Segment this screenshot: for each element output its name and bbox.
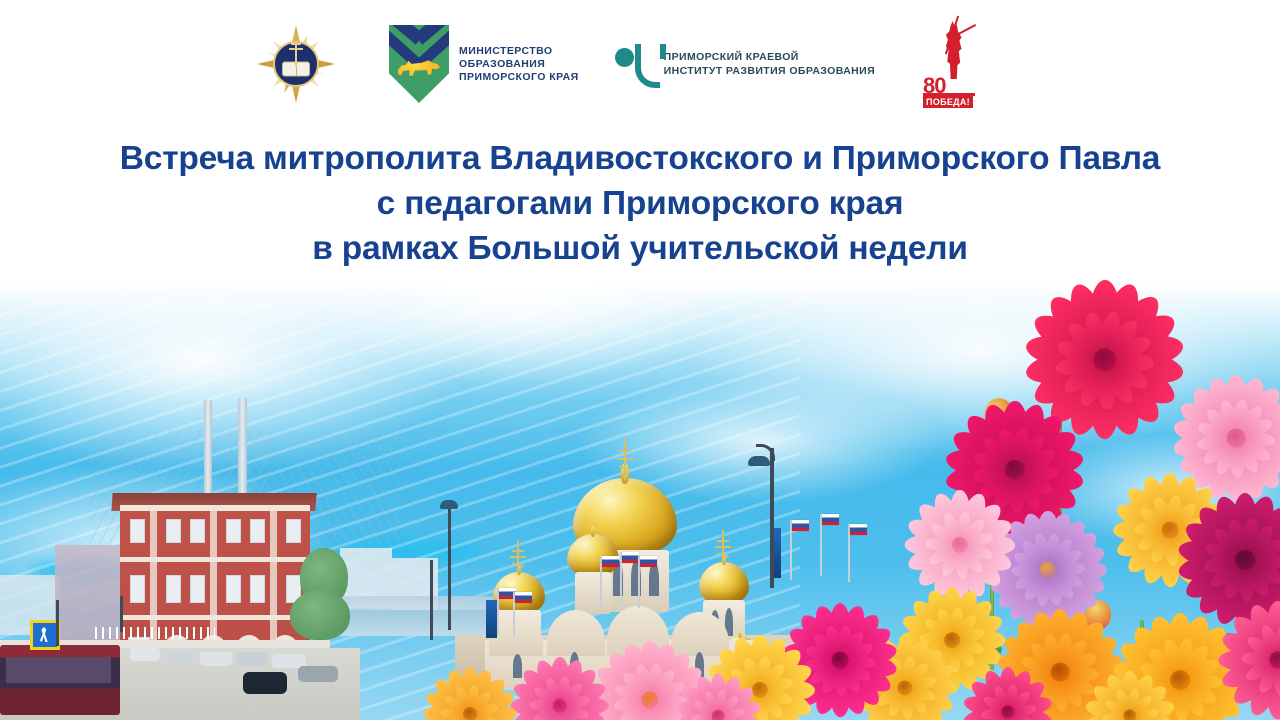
lamp-head bbox=[748, 456, 770, 466]
title-line-2: с педагогами Приморского края bbox=[0, 181, 1280, 226]
lamp-head bbox=[440, 500, 458, 509]
street-lamp bbox=[120, 596, 123, 632]
dome-cross bbox=[624, 438, 626, 480]
parked-car bbox=[200, 652, 232, 666]
poster-slide: МИНИСТЕРСТВО ОБРАЗОВАНИЯ ПРИМОРСКОГО КРА… bbox=[0, 0, 1280, 720]
raised-arm-icon bbox=[956, 24, 976, 36]
street-banner bbox=[966, 520, 977, 576]
bus-window bbox=[6, 657, 111, 683]
ministry-wordmark: МИНИСТЕРСТВО ОБРАЗОВАНИЯ ПРИМОРСКОГО КРА… bbox=[459, 45, 579, 84]
title-line-3: в рамках Большой учительской недели bbox=[0, 226, 1280, 271]
parked-car bbox=[130, 648, 160, 661]
street-railing bbox=[95, 627, 215, 639]
ministry-line-1: МИНИСТЕРСТВО bbox=[459, 45, 579, 58]
institute-mark-icon bbox=[615, 44, 655, 84]
dome-cross bbox=[517, 540, 519, 574]
parked-car bbox=[165, 650, 195, 663]
logo-row: МИНИСТЕРСТВО ОБРАЗОВАНИЯ ПРИМОРСКОГО КРА… bbox=[255, 18, 1045, 110]
victory-80-logo: 80 ПОБЕДА! bbox=[921, 19, 987, 109]
ministry-of-education-primorsky-logo: МИНИСТЕРСТВО ОБРАЗОВАНИЯ ПРИМОРСКОГО КРА… bbox=[337, 25, 579, 103]
dome-cross bbox=[722, 530, 724, 564]
plaza-lamp-post bbox=[430, 560, 433, 640]
institute-line-1: ПРИМОРСКИЙ КРАЕВОЙ bbox=[664, 50, 875, 64]
tree bbox=[290, 590, 350, 640]
victory-word: ПОБЕДА! bbox=[923, 96, 973, 108]
russian-flag bbox=[640, 556, 657, 567]
gable-arch bbox=[547, 610, 605, 656]
russian-flag bbox=[792, 520, 809, 531]
orthodox-cross-icon bbox=[295, 43, 297, 67]
primorsky-coat-of-arms-icon bbox=[389, 25, 449, 103]
ministry-line-3: ПРИМОРСКОГО КРАЯ bbox=[459, 71, 579, 84]
moving-car bbox=[298, 666, 338, 682]
russian-flag bbox=[622, 552, 639, 563]
russian-flag bbox=[515, 592, 532, 603]
russian-flag bbox=[602, 556, 619, 567]
plaza-lamp-post bbox=[770, 448, 774, 588]
street-banner bbox=[486, 600, 497, 638]
institute-wordmark: ПРИМОРСКИЙ КРАЕВОЙ ИНСТИТУТ РАЗВИТИЯ ОБР… bbox=[664, 50, 875, 78]
page-title: Встреча митрополита Владивостокского и П… bbox=[0, 136, 1280, 271]
title-line-1: Встреча митрополита Владивостокского и П… bbox=[0, 136, 1280, 181]
street-lamp bbox=[56, 600, 59, 646]
orthodox-education-emblem bbox=[255, 21, 337, 107]
moving-car bbox=[243, 672, 287, 694]
institute-line-2: ИНСТИТУТ РАЗВИТИЯ ОБРАЗОВАНИЯ bbox=[664, 64, 875, 78]
hook-curve-icon bbox=[635, 44, 660, 88]
gable-arch bbox=[607, 606, 669, 656]
parked-car bbox=[236, 652, 268, 666]
plaza-lamp-post bbox=[448, 500, 451, 630]
circle-dot-icon bbox=[615, 48, 634, 67]
tower-dome-right bbox=[699, 562, 749, 604]
logo-header: МИНИСТЕРСТВО ОБРАЗОВАНИЯ ПРИМОРСКОГО КРА… bbox=[0, 0, 1280, 122]
ministry-line-2: ОБРАЗОВАНИЯ bbox=[459, 58, 579, 71]
russian-flag bbox=[822, 514, 839, 525]
russian-flag bbox=[850, 524, 867, 535]
primorsky-institute-logo: ПРИМОРСКИЙ КРАЕВОЙ ИНСТИТУТ РАЗВИТИЯ ОБР… bbox=[615, 44, 875, 84]
